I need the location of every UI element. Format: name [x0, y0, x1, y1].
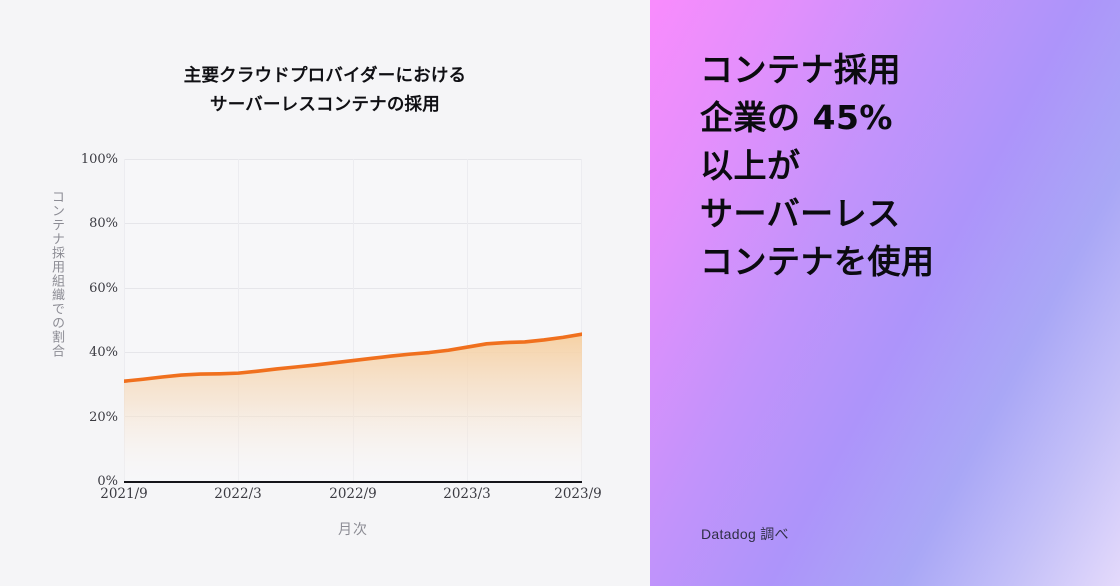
- gradient-panel: コンテナ採用 企業の 45% 以上が サーバーレス コンテナを使用 Datado…: [650, 0, 1120, 586]
- plot-wrapper: コンテナ採用組織での割合 100% 80% 60% 40% 20% 0%: [0, 0, 650, 586]
- y-tick-20: 20%: [66, 410, 118, 425]
- plot-area: [124, 159, 582, 481]
- y-tick-60: 60%: [66, 281, 118, 296]
- headline-line-5: コンテナを使用: [700, 238, 1100, 286]
- x-tick-2023-9: 2023/9: [554, 486, 602, 502]
- headline-line-4: サーバーレス: [700, 190, 1100, 238]
- y-tick-40: 40%: [66, 345, 118, 360]
- headline: コンテナ採用 企業の 45% 以上が サーバーレス コンテナを使用: [700, 46, 1100, 286]
- source-note: Datadog 調べ: [701, 524, 789, 544]
- headline-line-1: コンテナ採用: [700, 46, 1100, 94]
- x-axis-line: [124, 481, 582, 483]
- x-axis-title: 月次: [124, 519, 582, 539]
- y-tick-80: 80%: [66, 216, 118, 231]
- headline-line-3: 以上が: [700, 142, 1100, 190]
- slide-root: 主要クラウドプロバイダーにおける サーバーレスコンテナの採用 コンテナ採用組織で…: [0, 0, 1120, 586]
- x-tick-2021-9: 2021/9: [100, 486, 148, 502]
- x-tick-2023-3: 2023/3: [443, 486, 491, 502]
- x-tick-2022-3: 2022/3: [214, 486, 262, 502]
- x-tick-2022-9: 2022/9: [329, 486, 377, 502]
- adoption-area-series: [124, 159, 582, 481]
- headline-line-2: 企業の 45%: [700, 94, 1100, 142]
- chart-panel: 主要クラウドプロバイダーにおける サーバーレスコンテナの採用 コンテナ採用組織で…: [0, 0, 650, 586]
- y-tick-100: 100%: [66, 152, 118, 167]
